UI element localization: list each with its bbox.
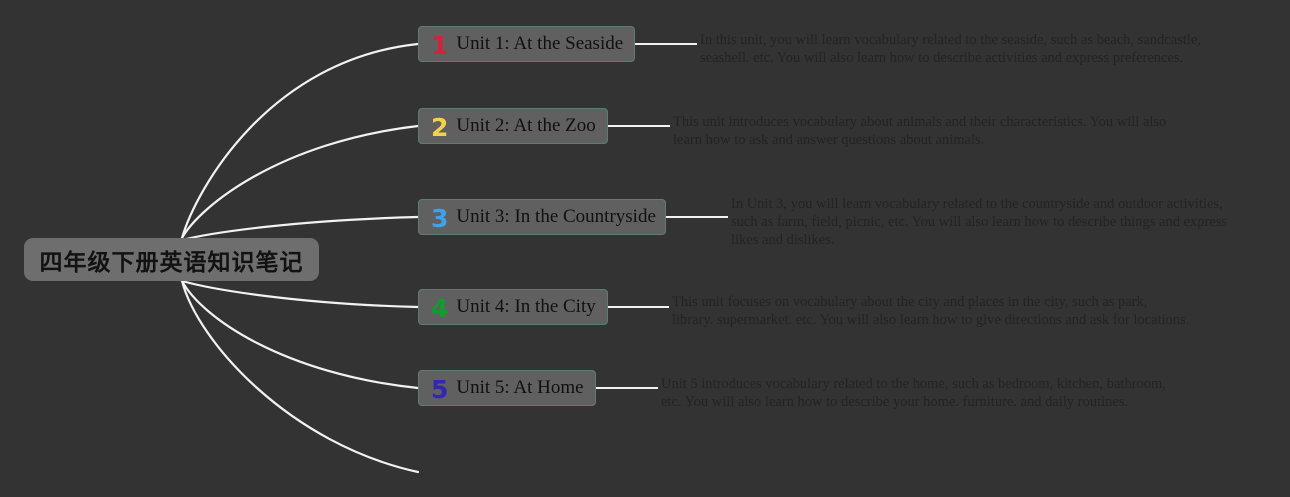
branch-curve-3 [182, 217, 418, 240]
unit-node-4[interactable]: 4 Unit 4: In the City [418, 289, 608, 325]
unit-node-3[interactable]: 3 Unit 3: In the Countryside [418, 199, 666, 235]
unit-title-3: Unit 3: In the Countryside [456, 206, 655, 228]
unit-title-2: Unit 2: At the Zoo [456, 115, 595, 137]
unit-title-1: Unit 1: At the Seaside [456, 33, 623, 55]
unit-title-4: Unit 4: In the City [456, 296, 595, 318]
unit-node-5[interactable]: 5 Unit 5: At Home [418, 370, 596, 406]
unit-number-1: 1 [431, 33, 448, 58]
unit-node-1[interactable]: 1 Unit 1: At the Seaside [418, 26, 635, 62]
branch-curve-1 [182, 44, 418, 238]
unit-number-3: 3 [431, 206, 448, 231]
unit-node-2[interactable]: 2 Unit 2: At the Zoo [418, 108, 608, 144]
unit-description-2: This unit introduces vocabulary about an… [673, 113, 1166, 149]
unit-number-2: 2 [431, 115, 448, 140]
branch-curve-4 [182, 281, 418, 307]
mindmap-canvas: 四年级下册英语知识笔记 1 Unit 1: At the Seaside In … [0, 0, 1290, 497]
root-node[interactable]: 四年级下册英语知识笔记 [24, 238, 319, 281]
branch-curve-6 [182, 281, 418, 472]
branch-curve-5 [182, 281, 418, 388]
unit-description-1: In this unit, you will learn vocabulary … [700, 31, 1201, 67]
unit-description-5: Unit 5 introduces vocabulary related to … [661, 375, 1166, 411]
root-node-label: 四年级下册英语知识笔记 [40, 243, 304, 277]
unit-number-5: 5 [431, 377, 448, 402]
unit-number-4: 4 [431, 296, 448, 321]
unit-description-4: This unit focuses on vocabulary about th… [672, 293, 1189, 329]
unit-description-3: In Unit 3, you will learn vocabulary rel… [731, 195, 1227, 249]
branch-curve-2 [182, 126, 418, 238]
unit-title-5: Unit 5: At Home [456, 377, 583, 399]
